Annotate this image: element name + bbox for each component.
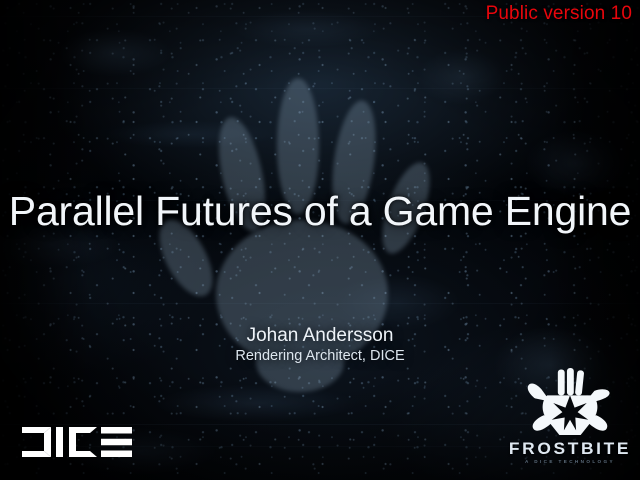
frostbite-tagline: A DICE TECHNOLOGY bbox=[506, 458, 634, 465]
public-version-banner: Public version 10 bbox=[486, 2, 632, 26]
slide-title: Parallel Futures of a Game Engine bbox=[0, 186, 640, 236]
presentation-slide: Public version 10 Parallel Futures of a … bbox=[0, 0, 640, 480]
frostbite-hand-icon bbox=[524, 368, 616, 438]
presenter-name: Johan Andersson bbox=[0, 324, 640, 347]
frostbite-wordmark: FROSTBITE bbox=[505, 439, 636, 458]
presenter-role: Rendering Architect, DICE bbox=[0, 347, 640, 366]
presenter-block: Johan Andersson Rendering Architect, DIC… bbox=[0, 324, 640, 366]
frostbite-logo: FROSTBITE A DICE TECHNOLOGY bbox=[506, 368, 634, 472]
dice-logo-icon bbox=[22, 427, 132, 457]
